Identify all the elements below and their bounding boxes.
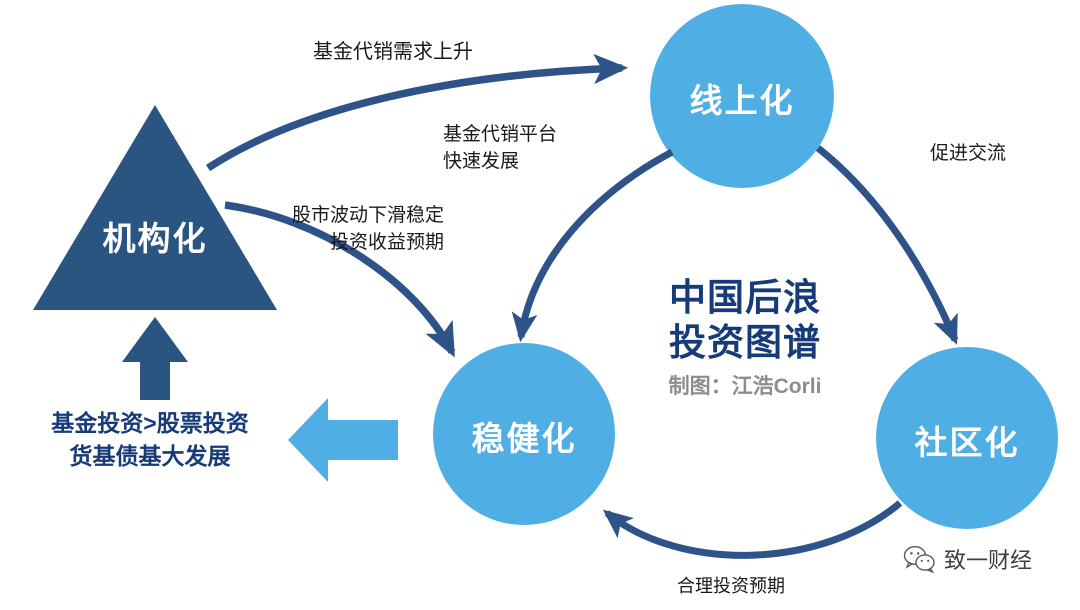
wechat-icon xyxy=(903,545,937,573)
diagram-title: 中国后浪 投资图谱 xyxy=(620,275,870,365)
edge-label-inst-to-stable: 股市波动下滑稳定 投资收益预期 xyxy=(292,203,444,257)
callout-text: 基金投资>股票投资 货基债基大发展 xyxy=(16,407,284,474)
edge-label-online-to-stable: 基金代销平台 快速发展 xyxy=(443,122,557,176)
diagram-credit: 制图：江浩Corli xyxy=(620,370,870,400)
node-community-shape xyxy=(876,347,1058,529)
edge-label-online-to-community: 促进交流 xyxy=(930,141,1006,168)
edge-community-to-stable xyxy=(607,503,900,555)
edge-label-community-to-stable: 合理投资预期 xyxy=(677,574,785,600)
brand-watermark: 致一财经 xyxy=(903,543,1032,575)
edge-inst-to-online xyxy=(208,68,622,168)
diagram-artwork xyxy=(0,0,1080,610)
edge-label-inst-to-online: 基金代销需求上升 xyxy=(313,38,473,66)
diagram-canvas: 机构化 线上化 稳健化 社区化 基金代销需求上升 基金代销平台 快速发展 股市波… xyxy=(0,0,1080,610)
callout-left-arrow xyxy=(288,398,398,482)
node-online-shape xyxy=(650,4,834,188)
brand-name: 致一财经 xyxy=(944,543,1032,575)
node-stable-shape xyxy=(433,343,615,525)
callout-up-arrow xyxy=(122,317,188,400)
